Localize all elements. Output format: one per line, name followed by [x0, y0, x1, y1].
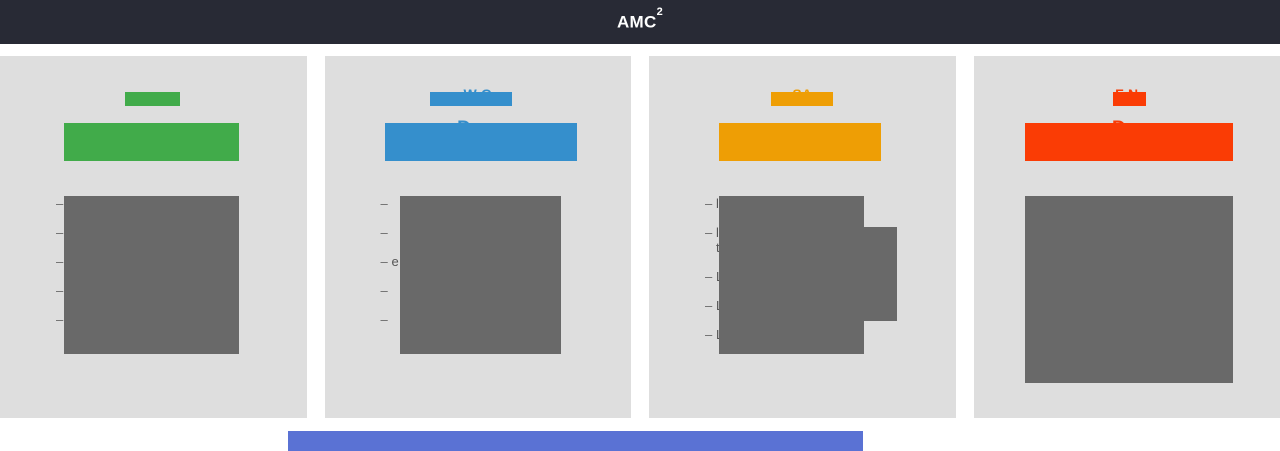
bullet-dash-icon: – [1030, 254, 1041, 269]
list-item: – [56, 283, 295, 298]
list-item: – [1030, 312, 1269, 327]
bullet-dash-icon: – [705, 327, 716, 342]
card-badge: W G [325, 86, 632, 102]
card[interactable]: SA e–l–l t–L n–L–L [649, 56, 956, 418]
list-item: – [381, 225, 620, 240]
list-item: –y [56, 225, 295, 240]
bullet-dash-icon: – [56, 312, 67, 327]
card-badge: SA [649, 86, 956, 102]
bullet-dash-icon: – [56, 225, 67, 240]
card-title: D e [974, 118, 1280, 139]
bullet-dash-icon: – [56, 254, 67, 269]
card[interactable]: F ND e––––y–– [974, 56, 1280, 418]
list-item: –L n [705, 269, 944, 284]
bullet-text: L [716, 327, 944, 342]
app-header: AMC2 [0, 0, 1280, 44]
list-item: – [381, 312, 620, 327]
list-item: –L [705, 327, 944, 342]
footer-caption: Ju on [620, 430, 660, 447]
app-title-superscript: 2 [657, 6, 663, 18]
bullet-dash-icon: – [381, 196, 392, 211]
redaction-block [125, 92, 180, 106]
bullet-dash-icon: – [381, 312, 392, 327]
list-item: – [56, 312, 295, 327]
card-title: e [0, 118, 307, 139]
card[interactable]: W GDe n–––e–– [325, 56, 632, 418]
bullet-dash-icon: – [1030, 341, 1041, 356]
bullet-dash-icon: – [705, 269, 716, 284]
bullet-dash-icon: – [56, 283, 67, 298]
card[interactable]: e––y––– [0, 56, 307, 418]
bullet-text: l [716, 196, 944, 211]
list-item: – [1030, 225, 1269, 240]
card-bullet-list: ––––y–– [1030, 196, 1269, 370]
bullet-text: L [716, 298, 944, 313]
list-item: – [56, 196, 295, 211]
bullet-dash-icon: – [381, 283, 392, 298]
bullet-dash-icon: – [56, 196, 67, 211]
list-item: –l t [705, 225, 944, 255]
list-item: –y [1030, 283, 1269, 298]
bullet-dash-icon: – [381, 225, 392, 240]
bullet-dash-icon: – [1030, 196, 1041, 211]
card-bullet-list: –––e–– [381, 196, 620, 341]
bullet-text: y [67, 225, 295, 240]
bullet-text: e [392, 254, 620, 269]
cards-row: e––y–––W GDe n–––e––SA e–l–l t–L n–L–LF … [0, 56, 1280, 418]
bullet-dash-icon: – [705, 196, 716, 211]
bullet-text: L n [716, 269, 944, 284]
list-item: – [1030, 196, 1269, 211]
list-item: – [381, 196, 620, 211]
bullet-text: y [1041, 283, 1269, 298]
card-title: e [649, 118, 956, 139]
bullet-dash-icon: – [705, 225, 716, 240]
list-item: –e [381, 254, 620, 269]
page-title: AMC2 [617, 13, 663, 31]
card-title: De n [325, 118, 632, 139]
bullet-dash-icon: – [1030, 225, 1041, 240]
list-item: – [1030, 341, 1269, 356]
card-bullet-list: –l–l t–L n–L–L [705, 196, 944, 356]
bullet-dash-icon: – [1030, 312, 1041, 327]
app-title-main: AMC [617, 13, 657, 32]
bullet-text: l t [716, 225, 944, 255]
card-bullet-list: ––y––– [56, 196, 295, 341]
list-item: – [56, 254, 295, 269]
card-badge: F N [974, 86, 1280, 102]
bullet-dash-icon: – [381, 254, 392, 269]
bullet-dash-icon: – [705, 298, 716, 313]
list-item: – [1030, 254, 1269, 269]
footer-bar: Ju on [0, 425, 1280, 451]
list-item: –L [705, 298, 944, 313]
bullet-dash-icon: – [1030, 283, 1041, 298]
list-item: – [381, 283, 620, 298]
list-item: –l [705, 196, 944, 211]
